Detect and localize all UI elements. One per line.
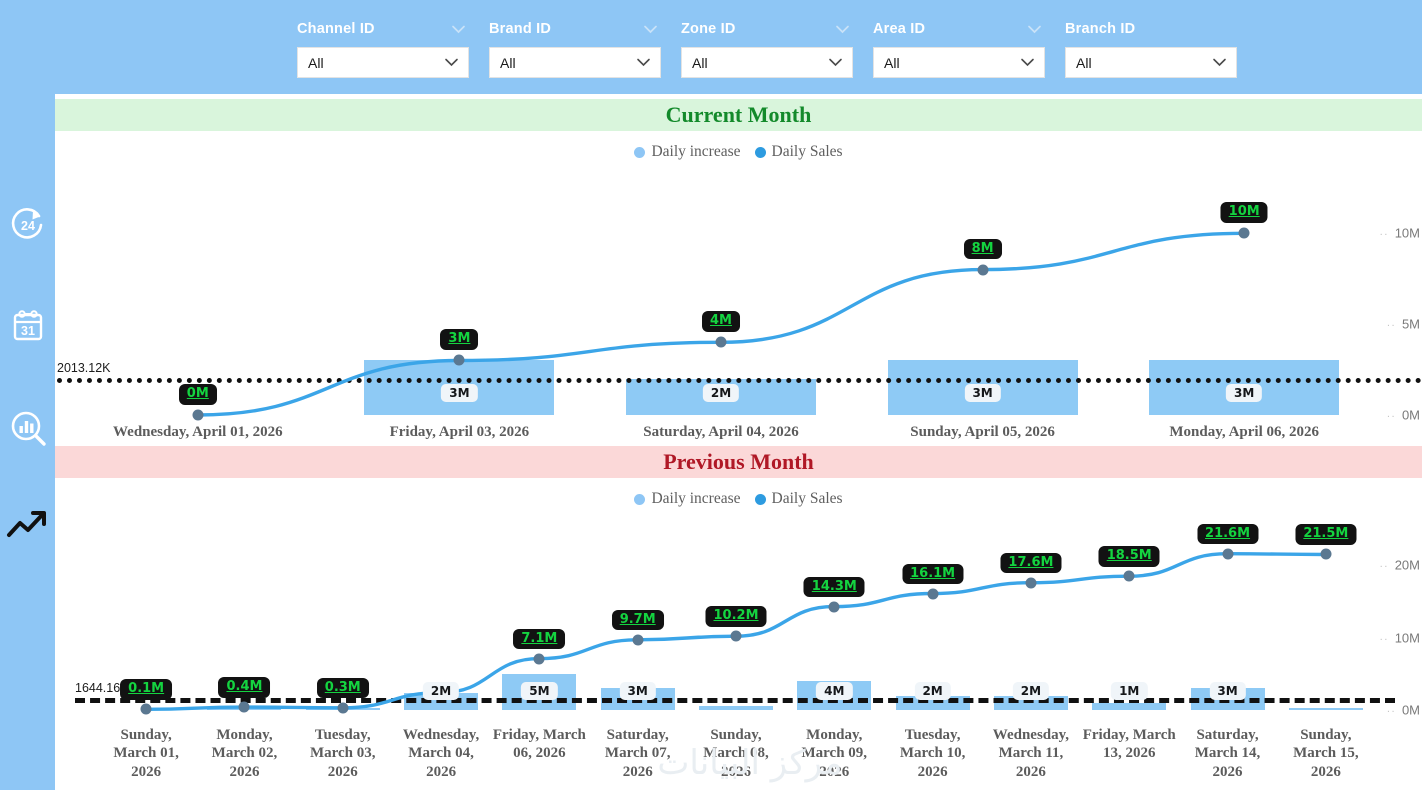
chevron-down-icon[interactable]: [636, 58, 651, 67]
svg-text:31: 31: [21, 324, 35, 338]
chevron-down-icon[interactable]: [835, 25, 850, 34]
legend-item-daily-sales[interactable]: Daily Sales: [755, 490, 843, 508]
daily-sales-value-label: 18.5M: [1099, 546, 1160, 567]
y-axis-tick: ··0M: [1387, 703, 1420, 718]
filter-channel-id-label: Channel ID: [297, 21, 375, 37]
daily-increase-value-label: 2M: [1013, 682, 1049, 700]
chevron-down-icon[interactable]: [1212, 58, 1227, 67]
x-axis-label: Monday, March 09, 2026: [786, 726, 882, 781]
filter-brand-id-header[interactable]: Brand ID: [489, 18, 661, 40]
daily-increase-value-label: 3M: [964, 384, 1000, 402]
legend-item-daily-increase[interactable]: Daily increase: [634, 490, 740, 508]
data-point-marker[interactable]: [731, 631, 742, 642]
filter-branch-id-select[interactable]: All: [1065, 47, 1237, 78]
filter-area-id[interactable]: Area ID All: [873, 18, 1045, 78]
y-axis-tick: ··5M: [1387, 317, 1420, 332]
data-point-marker[interactable]: [534, 653, 545, 664]
daily-sales-value-label: 21.5M: [1295, 524, 1356, 545]
x-axis-label: Wednesday, March 11, 2026: [983, 726, 1079, 781]
y-axis-tick-dots: ··: [1387, 320, 1396, 332]
data-point-marker[interactable]: [239, 702, 250, 713]
current-month-plot-area: 2013.12K0M3M4M8M10M3M2M3M3M··0M··5M··10M…: [55, 131, 1422, 446]
daily-increase-value-label: 3M: [1209, 682, 1245, 700]
y-axis-tick: ··10M: [1379, 630, 1420, 645]
data-point-marker[interactable]: [1025, 577, 1036, 588]
analytics-search-icon[interactable]: [0, 403, 55, 453]
x-axis-label: Wednesday, April 01, 2026: [113, 423, 283, 441]
daily-sales-value-label: 7.1M: [513, 629, 565, 650]
chevron-down-icon[interactable]: [828, 58, 843, 67]
daily-sales-value-label: 10.2M: [705, 606, 766, 627]
x-axis-label: Friday, March 06, 2026: [491, 726, 587, 763]
chevron-down-icon[interactable]: [444, 58, 459, 67]
x-axis-label: Sunday, March 15, 2026: [1278, 726, 1374, 781]
x-axis-label: Tuesday, March 10, 2026: [885, 726, 981, 781]
trend-up-icon[interactable]: [0, 500, 55, 550]
filter-area-id-select[interactable]: All: [873, 47, 1045, 78]
filter-zone-id-label: Zone ID: [681, 21, 736, 37]
filter-branch-id[interactable]: Branch ID All: [1065, 18, 1237, 78]
daily-increase-value-label: 3M: [620, 682, 656, 700]
x-axis-label: Monday, April 06, 2026: [1169, 423, 1319, 441]
filter-zone-id-value: All: [692, 55, 708, 71]
x-axis-label: Sunday, April 05, 2026: [910, 423, 1055, 441]
previous-month-banner: Previous Month: [55, 446, 1422, 478]
y-axis-tick-dots: ··: [1387, 706, 1396, 718]
daily-sales-value-label: 0.1M: [120, 679, 172, 700]
filter-area-id-header[interactable]: Area ID: [873, 18, 1045, 40]
x-axis-label: Friday, April 03, 2026: [390, 423, 530, 441]
legend-item-daily-sales[interactable]: Daily Sales: [755, 143, 843, 161]
data-point-marker[interactable]: [829, 601, 840, 612]
previous-month-plot-area: 1644.16K0.1M0.4M0.3M7.1M9.7M10.2M14.3M16…: [55, 478, 1422, 790]
x-axis-label: Saturday, March 07, 2026: [590, 726, 686, 781]
legend-label-daily-increase: Daily increase: [651, 143, 740, 161]
data-point-marker[interactable]: [1320, 549, 1331, 560]
daily-sales-value-label: 17.6M: [1000, 553, 1061, 574]
daily-sales-value-label: 21.6M: [1197, 524, 1258, 545]
filter-area-id-label: Area ID: [873, 21, 925, 37]
y-axis-tick: ··0M: [1387, 408, 1420, 423]
daily-increase-value-label: 2M: [423, 682, 459, 700]
previous-month-legend: Daily increase Daily Sales: [55, 487, 1422, 511]
x-axis-label: Monday, March 02, 2026: [196, 726, 292, 781]
chevron-down-icon[interactable]: [451, 25, 466, 34]
filter-branch-id-value: All: [1076, 55, 1092, 71]
daily-sales-value-label: 10M: [1221, 202, 1268, 223]
hours-24-refresh-icon[interactable]: 24: [0, 200, 55, 250]
filter-area-id-value: All: [884, 55, 900, 71]
daily-sales-value-label: 14.3M: [804, 577, 865, 598]
data-point-marker[interactable]: [716, 337, 727, 348]
y-axis-tick-dots: ··: [1387, 411, 1396, 423]
data-point-marker[interactable]: [977, 264, 988, 275]
previous-month-chart: 1644.16K0.1M0.4M0.3M7.1M9.7M10.2M14.3M16…: [55, 478, 1422, 790]
data-point-marker[interactable]: [927, 588, 938, 599]
daily-sales-value-label: 0M: [179, 384, 217, 405]
y-axis-tick-dots: ··: [1379, 229, 1388, 241]
legend-dot-daily-sales: [755, 494, 766, 505]
daily-sales-value-label: 3M: [440, 329, 478, 350]
y-axis-tick-dots: ··: [1379, 633, 1388, 645]
current-month-banner: Current Month: [55, 99, 1422, 131]
filter-channel-id-select[interactable]: All: [297, 47, 469, 78]
filter-channel-id[interactable]: Channel ID All: [297, 18, 469, 78]
data-point-marker[interactable]: [1222, 548, 1233, 559]
filter-brand-id-label: Brand ID: [489, 21, 551, 37]
data-point-marker[interactable]: [1124, 571, 1135, 582]
legend-dot-daily-increase: [634, 147, 645, 158]
chevron-down-icon[interactable]: [1027, 25, 1042, 34]
current-month-title: Current Month: [666, 102, 812, 128]
y-axis-tick-label: 0M: [1402, 703, 1420, 718]
filter-brand-id-select[interactable]: All: [489, 47, 661, 78]
data-point-marker[interactable]: [141, 704, 152, 715]
y-axis-tick-label: 5M: [1402, 317, 1420, 332]
daily-increase-value-label: 3M: [1226, 384, 1262, 402]
daily-sales-value-label: 16.1M: [902, 564, 963, 585]
x-axis-label: Saturday, April 04, 2026: [643, 423, 798, 441]
current-month-chart: 2013.12K0M3M4M8M10M3M2M3M3M··0M··5M··10M…: [55, 131, 1422, 446]
current-month-legend: Daily increase Daily Sales: [55, 140, 1422, 164]
legend-label-daily-sales: Daily Sales: [772, 490, 843, 508]
x-axis-label: Saturday, March 14, 2026: [1180, 726, 1276, 781]
x-axis-label: Sunday, March 01, 2026: [98, 726, 194, 781]
y-axis-tick-label: 10M: [1395, 226, 1420, 241]
daily-increase-value-label: 1M: [1111, 682, 1147, 700]
y-axis-tick-label: 20M: [1395, 558, 1420, 573]
daily-increase-value-label: 3M: [441, 384, 477, 402]
data-point-marker[interactable]: [632, 634, 643, 645]
y-axis-tick-label: 0M: [1402, 408, 1420, 423]
legend-dot-daily-increase: [634, 494, 645, 505]
data-point-marker[interactable]: [454, 355, 465, 366]
left-sidebar: 24 31: [0, 0, 55, 790]
y-axis-tick: ··10M: [1379, 226, 1420, 241]
calendar-31-icon[interactable]: 31: [0, 302, 55, 352]
chevron-down-icon[interactable]: [1020, 58, 1035, 67]
legend-label-daily-sales: Daily Sales: [772, 143, 843, 161]
daily-sales-value-label: 8M: [964, 239, 1002, 260]
filter-channel-id-value: All: [308, 55, 324, 71]
x-axis-label: Tuesday, March 03, 2026: [295, 726, 391, 781]
daily-sales-value-label: 4M: [702, 311, 740, 332]
daily-sales-value-label: 0.4M: [218, 677, 270, 698]
daily-increase-value-label: 2M: [914, 682, 950, 700]
daily-sales-value-label: 0.3M: [317, 678, 369, 699]
legend-item-daily-increase[interactable]: Daily increase: [634, 143, 740, 161]
y-axis-tick-dots: ··: [1379, 561, 1388, 573]
filter-branch-id-header[interactable]: Branch ID: [1065, 18, 1237, 40]
data-point-marker[interactable]: [192, 410, 203, 421]
daily-increase-value-label: 5M: [521, 682, 557, 700]
filter-bar: Channel ID All Brand ID All Zone ID All …: [55, 0, 1422, 94]
y-axis-tick: ··20M: [1379, 558, 1420, 573]
daily-sales-value-label: 9.7M: [612, 610, 664, 631]
legend-label-daily-increase: Daily increase: [651, 490, 740, 508]
daily-increase-value-label: 4M: [816, 682, 852, 700]
chevron-down-icon[interactable]: [643, 25, 658, 34]
y-axis-tick-label: 10M: [1395, 630, 1420, 645]
daily-increase-value-label: 2M: [703, 384, 739, 402]
filter-zone-id-header[interactable]: Zone ID: [681, 18, 853, 40]
previous-month-title: Previous Month: [663, 449, 814, 475]
x-axis-label: Wednesday, March 04, 2026: [393, 726, 489, 781]
x-axis-label: Friday, March 13, 2026: [1081, 726, 1177, 763]
filter-zone-id-select[interactable]: All: [681, 47, 853, 78]
data-point-marker[interactable]: [1239, 228, 1250, 239]
legend-dot-daily-sales: [755, 147, 766, 158]
data-point-marker[interactable]: [337, 702, 348, 713]
x-axis-label: Sunday, March 08, 2026: [688, 726, 784, 781]
filter-brand-id-value: All: [500, 55, 516, 71]
svg-text:24: 24: [21, 219, 35, 233]
filter-branch-id-label: Branch ID: [1065, 21, 1135, 37]
filter-brand-id[interactable]: Brand ID All: [489, 18, 661, 78]
filter-channel-id-header[interactable]: Channel ID: [297, 18, 469, 40]
filter-zone-id[interactable]: Zone ID All: [681, 18, 853, 78]
